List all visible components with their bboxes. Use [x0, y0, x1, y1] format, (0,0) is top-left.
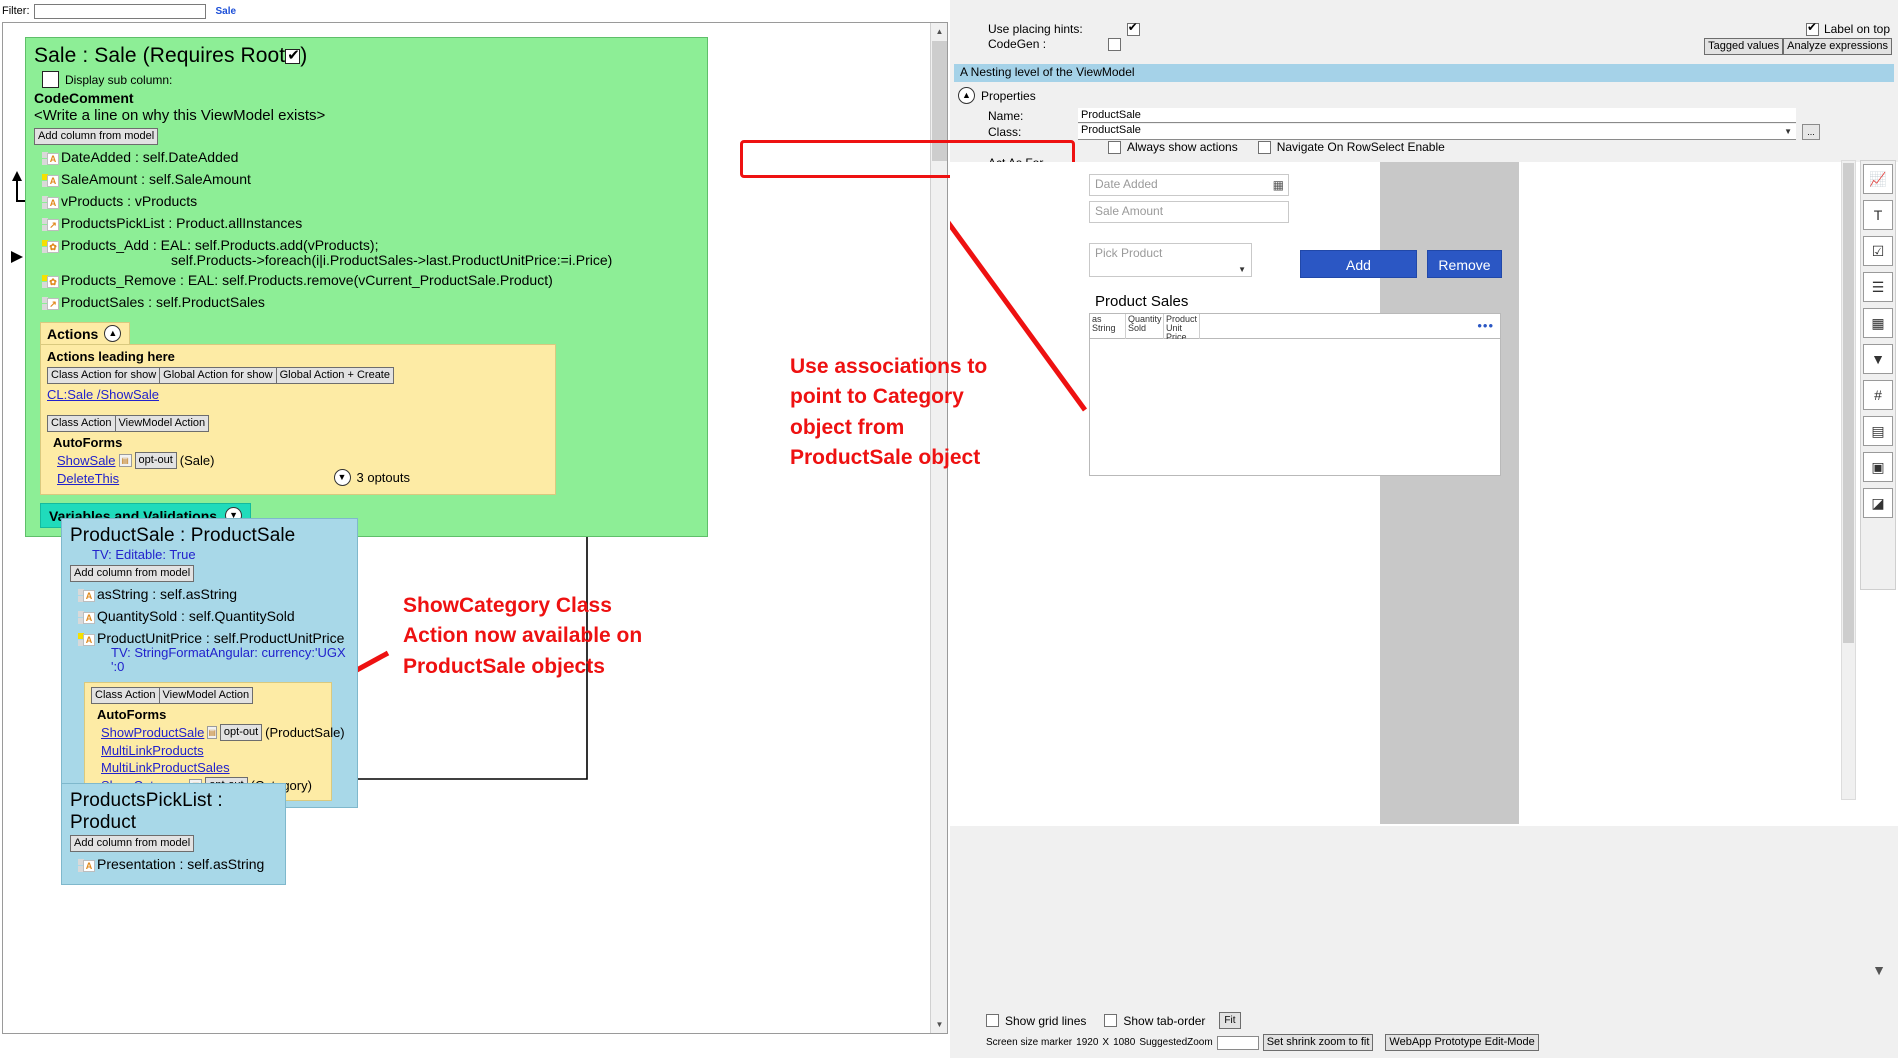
attribute-label: Products_Add : EAL: self.Products.add(vP… — [61, 238, 612, 268]
class-label: Class: — [988, 125, 1078, 139]
association-icon: ↗ — [42, 218, 58, 233]
scroll-thumb[interactable] — [1843, 163, 1854, 643]
add-column-from-model-button-productsale[interactable]: Add column from model — [70, 565, 194, 582]
class-row: Class: ProductSale ▼ ... — [988, 124, 1820, 140]
filter-input[interactable] — [34, 4, 206, 19]
actions-leading-here-label: Actions leading here — [47, 349, 549, 364]
sale-breadcrumb-link[interactable]: Sale — [216, 6, 237, 17]
add-button[interactable]: Add — [1300, 250, 1417, 278]
screen-size-marker-label: Screen size marker — [986, 1037, 1072, 1048]
association-icon: ↗ — [42, 297, 58, 312]
use-placing-hints-checkbox[interactable] — [1127, 23, 1140, 36]
suggested-zoom-input[interactable] — [1217, 1036, 1259, 1050]
bottom-zoom-row: Screen size marker 1920 X 1080 Suggested… — [986, 1034, 1539, 1051]
widget-toolstrip[interactable]: 📈 T ☑ ☰ ▦ ▼ # ▤ ▣ ◪ — [1860, 160, 1896, 590]
attribute-row[interactable]: ✿ Products_Remove : EAL: self.Products.r… — [42, 273, 699, 290]
attribute-row[interactable]: ↗ ProductSales : self.ProductSales — [42, 295, 699, 312]
show-grid-lines-label: Show grid lines — [1005, 1014, 1086, 1028]
webapp-prototype-edit-mode-button[interactable]: WebApp Prototype Edit-Mode — [1385, 1034, 1538, 1051]
navigate-on-rowselect-checkbox[interactable] — [1258, 141, 1271, 154]
canvas-vertical-scrollbar[interactable]: ▲ ▼ — [930, 23, 947, 1033]
attribute-label: Products_Remove : EAL: self.Products.rem… — [61, 273, 553, 288]
always-show-actions-label: Always show actions — [1127, 140, 1238, 154]
actions-button-row-1: Class Action for show Global Action for … — [47, 367, 393, 384]
attribute-label: SaleAmount : self.SaleAmount — [61, 172, 251, 187]
screen-width-value: 1920 — [1076, 1037, 1098, 1048]
filter-bar: Filter: Sale — [0, 0, 950, 22]
autoform-row[interactable]: DeleteThis — [57, 471, 549, 486]
sale-title-text: Sale : Sale — [34, 44, 143, 67]
attribute-label: asString : self.asString — [97, 587, 237, 602]
attribute-label: Presentation : self.asString — [97, 857, 264, 872]
deletethis-link[interactable]: DeleteThis — [57, 471, 119, 486]
attribute-label: ProductSales : self.ProductSales — [61, 295, 265, 310]
attribute-row[interactable]: A asString : self.asString — [78, 587, 349, 604]
layers-icon[interactable]: ◪ — [1863, 488, 1893, 518]
showproductsale-link[interactable]: ShowProductSale — [101, 725, 204, 740]
codegen-checkbox[interactable] — [1108, 38, 1121, 51]
optout-button[interactable]: opt-out — [220, 724, 262, 741]
optout-button[interactable]: opt-out — [135, 452, 177, 469]
image-icon[interactable]: ▣ — [1863, 452, 1893, 482]
add-column-from-model-button-sale[interactable]: Add column from model — [34, 128, 158, 145]
attribute-label: ProductsPickList : Product.allInstances — [61, 216, 302, 231]
annotation-showcategory-note: ShowCategory Class Action now available … — [403, 591, 803, 682]
productsale-tagged-value: TV: Editable: True — [92, 547, 349, 562]
optouts-toggle[interactable]: ▼ 3 optouts — [334, 469, 411, 486]
attribute-icon: A — [78, 633, 94, 648]
autoform-target: (Sale) — [180, 453, 215, 468]
show-tab-order-checkbox[interactable] — [1104, 1014, 1117, 1027]
requires-root-label: (Requires Root — [143, 44, 286, 67]
attribute-row[interactable]: ✿ Products_Add : EAL: self.Products.add(… — [42, 238, 699, 268]
name-input[interactable] — [1078, 108, 1796, 123]
label-on-top-checkbox[interactable] — [1806, 23, 1819, 36]
add-column-from-model-button-picklist[interactable]: Add column from model — [70, 835, 194, 852]
grid-column-asstring[interactable]: as String — [1090, 314, 1126, 339]
set-shrink-zoom-button[interactable]: Set shrink zoom to fit — [1263, 1034, 1374, 1051]
date-added-placeholder: Date Added — [1095, 177, 1158, 191]
chevron-down-icon[interactable]: ▼ — [334, 469, 351, 486]
cl-sale-showsale-link[interactable]: CL:Sale /ShowSale — [47, 387, 159, 402]
grid-column-productunitprice[interactable]: Product Unit Price — [1164, 314, 1200, 339]
operation-icon: ✿ — [42, 240, 58, 255]
show-grid-lines-checkbox[interactable] — [986, 1014, 999, 1027]
always-show-actions-checkbox[interactable] — [1108, 141, 1121, 154]
attribute-main-text: Products_Add : EAL: self.Products.add(vP… — [61, 237, 379, 253]
attribute-row[interactable]: A SaleAmount : self.SaleAmount — [42, 172, 699, 189]
bottom-status-bar: Show grid lines Show tab-order Fit Scree… — [950, 1006, 1898, 1058]
autoform-row[interactable]: ShowSale ▤ opt-out (Sale) — [57, 452, 549, 469]
remove-button[interactable]: Remove — [1427, 250, 1502, 278]
display-sub-column-checkbox[interactable] — [42, 71, 59, 88]
attribute-icon: A — [78, 589, 94, 604]
operation-icon: ✿ — [42, 275, 58, 290]
autoform-row[interactable]: MultiLinkProducts — [101, 743, 325, 758]
always-show-actions-row[interactable]: Always show actions Navigate On RowSelec… — [1108, 140, 1445, 154]
attribute-row[interactable]: A Presentation : self.asString — [78, 857, 277, 874]
attribute-row[interactable]: A ProductUnitPrice : self.ProductUnitPri… — [78, 631, 349, 674]
fit-button[interactable]: Fit — [1219, 1012, 1240, 1029]
chevron-up-icon[interactable]: ▲ — [958, 87, 975, 104]
screen-size-x: X — [1102, 1037, 1109, 1048]
attribute-label: DateAdded : self.DateAdded — [61, 150, 238, 165]
table-icon[interactable]: ▤ — [1863, 416, 1893, 446]
date-added-field[interactable]: Date Added ▦ — [1089, 174, 1289, 196]
chevron-down-icon[interactable]: ▼ — [1238, 265, 1246, 274]
requires-root-paren: ) — [300, 44, 307, 67]
global-action-plus-create-button[interactable]: Global Action + Create — [276, 367, 394, 384]
product-sales-label: Product Sales — [1095, 293, 1188, 310]
actions-section-tab[interactable]: Actions ▲ — [40, 322, 130, 344]
attribute-row[interactable]: A DateAdded : self.DateAdded — [42, 150, 699, 167]
form-icon[interactable]: ▤ — [207, 726, 217, 739]
productspicklist-card-title: ProductsPickList : Product — [70, 790, 277, 834]
text-icon[interactable]: T — [1863, 200, 1893, 230]
requires-root-checkbox[interactable] — [285, 49, 300, 64]
scroll-down-arrow[interactable]: ▼ — [931, 1016, 948, 1033]
properties-label: Properties — [981, 89, 1036, 103]
codecomment-text[interactable]: <Write a line on why this ViewModel exis… — [34, 107, 699, 124]
productspicklist-card[interactable]: ProductsPickList : Product Add column fr… — [61, 783, 286, 885]
attribute-row[interactable]: ↗ ProductsPickList : Product.allInstance… — [42, 216, 699, 233]
scroll-thumb[interactable] — [932, 41, 947, 161]
class-action-button[interactable]: Class Action — [47, 415, 116, 432]
class-select[interactable]: ProductSale ▼ — [1078, 124, 1796, 140]
attribute-icon: A — [42, 196, 58, 211]
tagged-values-buttons: Tagged values Analyze expressions — [1704, 38, 1892, 55]
autoforms-label-productsale: AutoForms — [97, 707, 325, 722]
name-row: Name: — [988, 108, 1796, 123]
attribute-main-text: ProductUnitPrice : self.ProductUnitPrice — [97, 630, 344, 646]
attribute-label: QuantitySold : self.QuantitySold — [97, 609, 295, 624]
bottom-options-row: Show grid lines Show tab-order Fit — [986, 1012, 1241, 1029]
name-label: Name: — [988, 109, 1078, 123]
analyze-expressions-button[interactable]: Analyze expressions — [1783, 38, 1892, 55]
actions-button-row-2: Class Action ViewModel Action — [47, 415, 208, 432]
collapse-chevron-icon[interactable]: ▼ — [1872, 962, 1886, 978]
multilinkproductsales-link[interactable]: MultiLinkProductSales — [101, 760, 230, 775]
productsale-button-row: Class Action ViewModel Action — [91, 687, 252, 704]
list-icon[interactable]: ☰ — [1863, 272, 1893, 302]
grid-header-row: as String Quantity Sold Product Unit Pri… — [1090, 314, 1500, 339]
preview-vertical-scrollbar[interactable] — [1841, 160, 1856, 800]
attribute-icon: A — [42, 152, 58, 167]
nesting-level-banner: A Nesting level of the ViewModel — [954, 64, 1894, 82]
display-sub-column-row[interactable]: Display sub column: — [42, 71, 699, 88]
autoform-row[interactable]: ShowProductSale ▤ opt-out (ProductSale) — [101, 724, 325, 741]
viewmodel-action-button[interactable]: ViewModel Action — [115, 415, 210, 432]
use-placing-hints-row[interactable]: Use placing hints: — [988, 22, 1140, 36]
attribute-icon: A — [78, 859, 94, 874]
sale-viewmodel-card[interactable]: Sale : Sale (Requires Root) Display sub … — [25, 37, 708, 537]
scroll-up-arrow[interactable]: ▲ — [931, 23, 948, 40]
model-canvas[interactable]: Sale : Sale (Requires Root) Display sub … — [2, 22, 948, 1034]
label-on-top-row[interactable]: Label on top — [1806, 22, 1890, 36]
pick-product-field[interactable]: Pick Product ▼ — [1089, 243, 1252, 277]
pick-product-placeholder: Pick Product — [1095, 246, 1162, 260]
show-tab-order-label: Show tab-order — [1123, 1014, 1205, 1028]
attribute-label: vProducts : vProducts — [61, 194, 197, 209]
suggested-zoom-label: SuggestedZoom — [1139, 1037, 1212, 1048]
navigate-on-rowselect-label: Navigate On RowSelect Enable — [1277, 140, 1445, 154]
annotation-associations-note: Use associations to point to Category ob… — [790, 352, 1170, 474]
class-action-for-show-button[interactable]: Class Action for show — [47, 367, 160, 384]
screen-height-value: 1080 — [1113, 1037, 1135, 1048]
codegen-label: CodeGen : — [988, 37, 1046, 51]
codecomment-label: CodeComment — [34, 90, 699, 106]
grid-menu-icon[interactable]: ••• — [1477, 318, 1494, 333]
attribute-tagged-value: TV: StringFormatAngular: currency:'UGX '… — [111, 646, 349, 674]
global-action-for-show-button[interactable]: Global Action for show — [159, 367, 276, 384]
productsale-card-title: ProductSale : ProductSale — [70, 525, 349, 547]
attribute-icon: A — [78, 611, 94, 626]
number-icon[interactable]: # — [1863, 380, 1893, 410]
calendar-icon[interactable]: ▦ — [1863, 308, 1893, 338]
checkbox-icon[interactable]: ☑ — [1863, 236, 1893, 266]
sale-amount-field[interactable]: Sale Amount — [1089, 201, 1289, 223]
calendar-icon[interactable]: ▦ — [1273, 178, 1284, 192]
actions-panel: Actions leading here Class Action for sh… — [40, 344, 556, 495]
display-sub-column-label: Display sub column: — [65, 73, 172, 87]
attribute-label: ProductUnitPrice : self.ProductUnitPrice… — [97, 631, 349, 674]
class-value: ProductSale — [1081, 124, 1141, 136]
productsale-card[interactable]: ProductSale : ProductSale TV: Editable: … — [61, 518, 358, 808]
sale-amount-placeholder: Sale Amount — [1095, 204, 1163, 218]
grid-column-quantitysold[interactable]: Quantity Sold — [1126, 314, 1164, 339]
tagged-values-button[interactable]: Tagged values — [1704, 38, 1783, 55]
class-action-button[interactable]: Class Action — [91, 687, 160, 704]
attribute-icon: A — [42, 174, 58, 189]
attribute-continuation-text: self.Products->foreach(i|i.ProductSales-… — [171, 253, 612, 268]
chart-icon[interactable]: 📈 — [1863, 164, 1893, 194]
sale-card-title: Sale : Sale (Requires Root) — [34, 44, 699, 68]
form-icon[interactable]: ▤ — [119, 454, 132, 467]
optouts-count-label: 3 optouts — [357, 470, 411, 485]
actions-tab-label: Actions — [47, 326, 98, 342]
chevron-up-icon[interactable]: ▲ — [104, 325, 121, 342]
autoforms-label-sale: AutoForms — [53, 435, 549, 450]
filter-label: Filter: — [2, 5, 30, 17]
properties-section-header[interactable]: ▲ Properties — [958, 87, 1036, 104]
attribute-row[interactable]: A vProducts : vProducts — [42, 194, 699, 211]
chevron-down-icon[interactable]: ▼ — [1784, 127, 1792, 136]
viewmodel-action-button[interactable]: ViewModel Action — [159, 687, 254, 704]
dropdown-icon[interactable]: ▼ — [1863, 344, 1893, 374]
autoform-row[interactable]: MultiLinkProductSales — [101, 760, 325, 775]
autoform-target: (ProductSale) — [265, 725, 344, 740]
showsale-link[interactable]: ShowSale — [57, 453, 116, 468]
class-browse-button[interactable]: ... — [1802, 124, 1820, 140]
use-placing-hints-label: Use placing hints: — [988, 22, 1083, 36]
multilinkproducts-link[interactable]: MultiLinkProducts — [101, 743, 204, 758]
codegen-row[interactable]: CodeGen : — [988, 37, 1121, 51]
attribute-row[interactable]: A QuantitySold : self.QuantitySold — [78, 609, 349, 626]
label-on-top-label: Label on top — [1824, 22, 1890, 36]
